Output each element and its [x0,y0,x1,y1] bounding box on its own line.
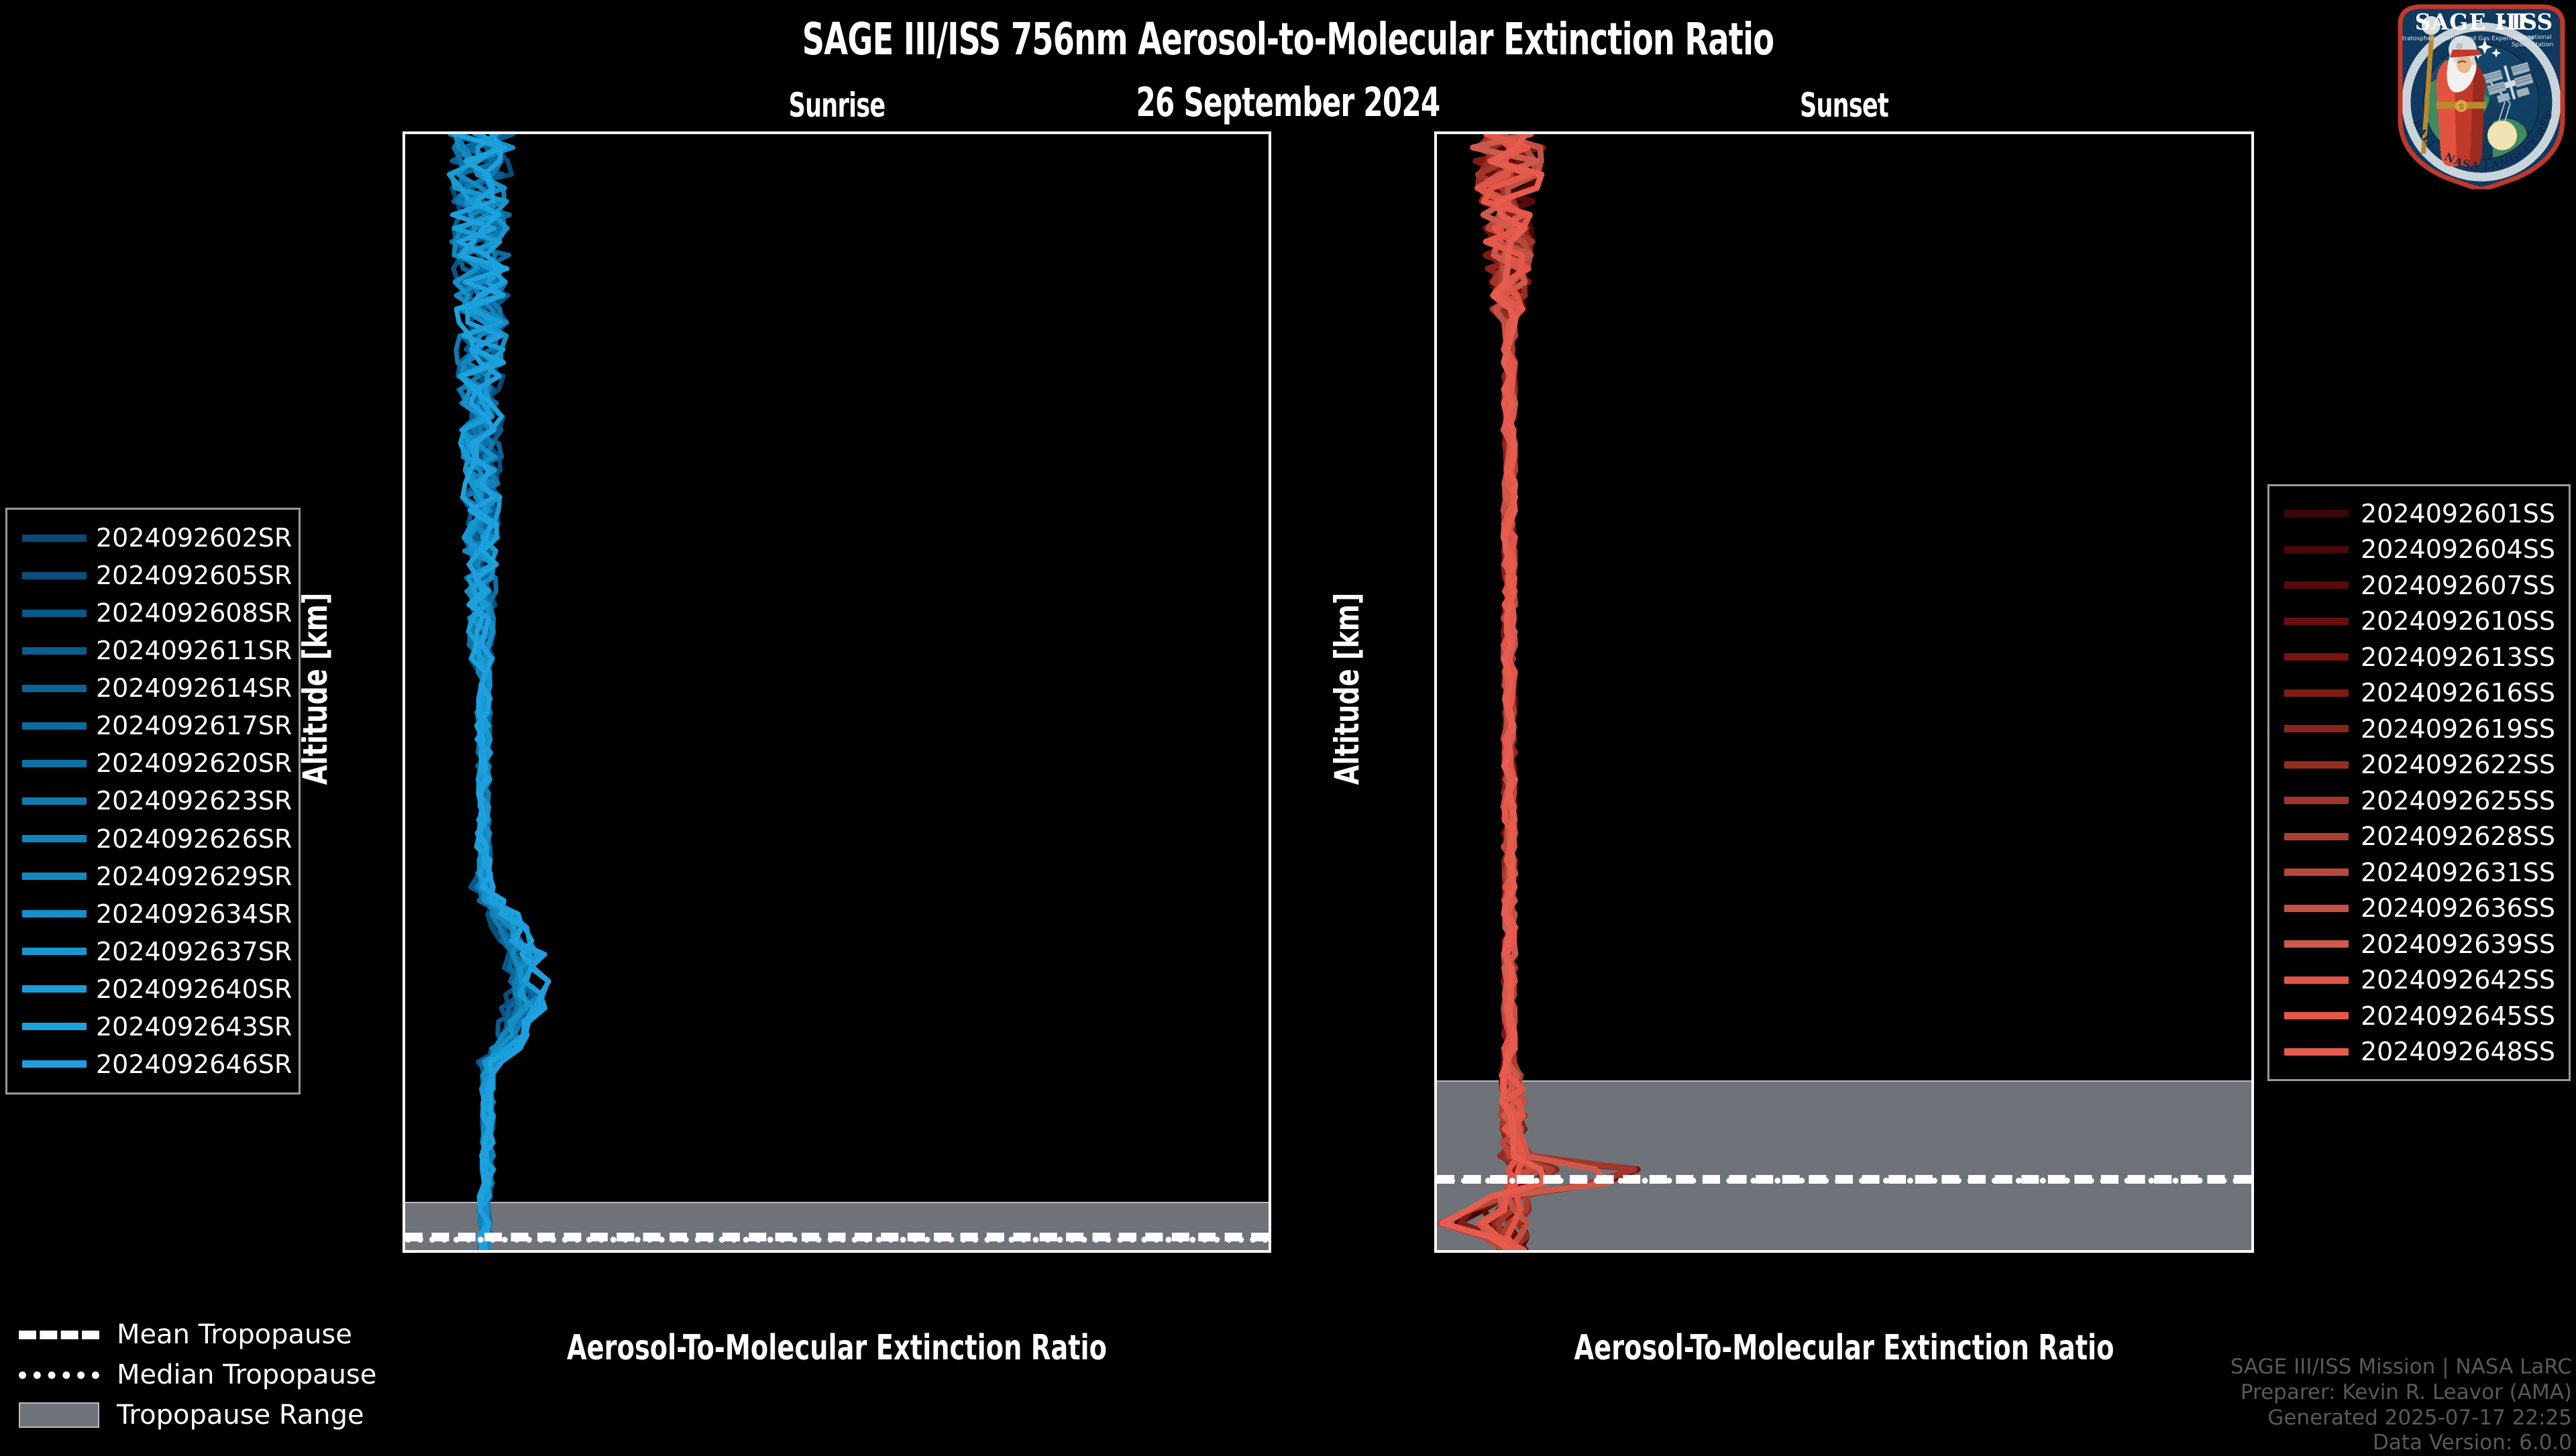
legend-color-swatch [2284,976,2349,984]
profile-trace [1442,134,1544,1250]
legend-item[interactable]: 2024092637SR [7,933,299,970]
legend-event-label: 2024092639SS [2361,930,2555,959]
credit-data-version: Data Version: 6.0.0 [2231,1431,2572,1456]
legend-item[interactable]: 2024092648SS [2269,1034,2569,1070]
legend-item[interactable]: 2024092608SR [7,594,299,632]
y-tick-mark [402,536,405,539]
legend-event-label: 2024092634SR [96,899,292,929]
legend-event-label: 2024092640SR [96,974,292,1004]
legend-color-swatch [2284,1048,2349,1056]
y-tick-mark [1434,133,1437,135]
legend-color-swatch [22,685,87,692]
profile-trace [1457,134,1635,1250]
legend-item[interactable]: 2024092634SR [7,895,299,933]
legend-color-swatch [22,760,87,767]
legend-item[interactable]: 2024092623SR [7,782,299,820]
y-tick-mark [1434,267,1437,270]
plot-panel-sunrise: 101520253035404550 020406080100 [402,131,1271,1253]
legend-color-swatch [2284,653,2349,661]
legend-color-swatch [2284,581,2349,589]
x-tick-mark [2100,1250,2103,1253]
median-tropopause-line-sunrise [405,1237,1269,1243]
legend-item[interactable]: 2024092640SR [7,970,299,1008]
legend-color-swatch [22,1023,87,1030]
credits-block: SAGE III/ISS Mission | NASA LaRC Prepare… [2231,1355,2572,1456]
legend-event-label: 2024092622SS [2361,750,2555,779]
legend-event-label: 2024092648SS [2361,1037,2555,1066]
legend-item[interactable]: 2024092646SR [7,1046,299,1083]
y-tick-mark [402,940,405,942]
y-tick-mark [402,1209,405,1211]
legend-sunrise-events[interactable]: 2024092602SR2024092605SR2024092608SR2024… [5,508,301,1095]
x-axis-label-sunrise: Aerosol-To-Molecular Extinction Ratio [481,1328,1193,1368]
legend-event-label: 2024092611SR [96,636,292,665]
y-tick-mark [402,402,405,404]
y-axis-label-sunrise: Altitude [km] [296,518,335,860]
legend-item[interactable]: 2024092602SR [7,519,299,557]
legend-color-swatch [2284,618,2349,625]
legend-event-label: 2024092631SS [2361,858,2555,887]
legend-item[interactable]: 2024092601SS [2269,496,2569,532]
y-tick-mark [1434,940,1437,942]
legend-color-swatch [2284,510,2349,517]
legend-item[interactable]: 2024092619SS [2269,711,2569,747]
legend-event-label: 2024092636SS [2361,893,2555,923]
legend-item[interactable]: 2024092642SS [2269,962,2569,999]
legend-event-label: 2024092617SR [96,711,292,740]
sage3-iss-mission-patch-logo: S SAGE III · ISS Stratospheric Aerosol a… [2392,1,2571,189]
x-tick-mark [1951,1250,1953,1253]
y-tick-mark [1434,1209,1437,1211]
legend-color-swatch [2284,1012,2349,1019]
legend-color-swatch [22,835,87,842]
legend-color-swatch [22,610,87,617]
legend-event-label: 2024092637SR [96,937,292,966]
y-tick-mark [1434,671,1437,673]
panel-label-sunset: Sunset [1524,86,2163,125]
median-tropopause-line-sunset [1437,1178,2251,1184]
y-tick-mark [1434,536,1437,539]
legend-event-label: 2024092613SS [2361,642,2555,672]
svg-text:ISS: ISS [2511,9,2553,35]
legend-color-swatch [22,535,87,542]
legend-item-mean-tropopause: Mean Tropopause [7,1314,382,1355]
y-tick-mark [1434,402,1437,404]
legend-item[interactable]: 2024092626SR [7,820,299,858]
legend-event-label: 2024092628SS [2361,822,2555,851]
legend-event-label: 2024092608SR [96,598,292,628]
legend-event-label: 2024092614SR [96,673,292,703]
legend-color-swatch [2284,725,2349,732]
legend-color-swatch [22,722,87,730]
legend-event-label: 2024092616SS [2361,678,2555,708]
legend-color-swatch [22,948,87,955]
plot-panel-sunset: 101520253035404550 020406080100 [1434,131,2254,1253]
dotted-line-icon [19,1371,99,1379]
legend-event-label: 2024092610SS [2361,606,2555,636]
legend-color-swatch [2284,546,2349,553]
legend-event-label: 2024092643SR [96,1012,292,1042]
legend-item[interactable]: 2024092645SS [2269,998,2569,1034]
legend-color-swatch [22,1060,87,1068]
legend-color-swatch [2284,689,2349,697]
x-tick-mark [951,1250,953,1253]
svg-text:International: International [2513,34,2551,41]
svg-text:Space Station: Space Station [2512,42,2553,48]
x-tick-mark [792,1250,795,1253]
profile-trace [1473,134,1608,1250]
legend-event-label: 2024092602SR [96,523,292,553]
x-tick-mark [1267,1250,1270,1253]
legend-color-swatch [22,572,87,579]
svg-text:S: S [2459,103,2464,111]
legend-item[interactable]: 2024092625SS [2269,783,2569,819]
legend-item[interactable]: 2024092631SS [2269,854,2569,891]
legend-item-median-tropopause: Median Tropopause [7,1355,382,1395]
legend-label-median-tropopause: Median Tropopause [117,1359,376,1390]
figure-canvas: SAGE III/ISS 756nm Aerosol-to-Molecular … [0,0,2576,1449]
legend-event-label: 2024092619SS [2361,714,2555,744]
svg-text:·: · [2500,9,2508,35]
panel-label-sunrise: Sunrise [498,86,1175,125]
legend-event-label: 2024092626SR [96,824,292,854]
x-tick-mark [633,1250,636,1253]
legend-event-label: 2024092629SR [96,862,292,891]
legend-label-tropopause-range: Tropopause Range [117,1400,364,1431]
legend-item[interactable]: 2024092605SR [7,557,299,594]
legend-item[interactable]: 2024092622SS [2269,747,2569,783]
credit-mission: SAGE III/ISS Mission | NASA LaRC [2231,1355,2572,1380]
y-tick-mark [1434,805,1437,807]
x-tick-mark [475,1250,478,1253]
x-tick-mark [1802,1250,1805,1253]
legend-item[interactable]: 2024092628SS [2269,819,2569,855]
legend-color-swatch [22,873,87,880]
legend-color-swatch [22,985,87,993]
x-axis-label-sunset: Aerosol-To-Molecular Extinction Ratio [1508,1328,2180,1368]
legend-item[interactable]: 2024092643SR [7,1008,299,1046]
legend-color-swatch [22,910,87,917]
legend-event-label: 2024092605SR [96,561,292,590]
legend-item-tropopause-range: Tropopause Range [7,1395,382,1435]
legend-item[interactable]: 2024092611SR [7,632,299,669]
credit-generated: Generated 2025-07-17 22:25 [2231,1406,2572,1431]
legend-color-swatch [2284,869,2349,876]
filled-rectangle-icon [19,1402,99,1428]
y-tick-mark [402,267,405,270]
legend-label-mean-tropopause: Mean Tropopause [117,1319,352,1350]
legend-event-label: 2024092607SS [2361,571,2555,600]
x-tick-mark [2250,1250,2253,1253]
figure-title: SAGE III/ISS 756nm Aerosol-to-Molecular … [283,13,2292,65]
legend-event-label: 2024092604SS [2361,535,2555,564]
legend-event-label: 2024092620SR [96,748,292,778]
legend-event-label: 2024092645SS [2361,1001,2555,1031]
sunrise-profile-traces [405,134,1269,1250]
legend-event-label: 2024092642SS [2361,965,2555,995]
legend-item[interactable]: 2024092616SS [2269,675,2569,712]
legend-tropopause: Mean Tropopause Median Tropopause Tropop… [7,1314,382,1435]
legend-color-swatch [2284,940,2349,948]
legend-event-label: 2024092601SS [2361,499,2555,528]
legend-item[interactable]: 2024092604SS [2269,532,2569,568]
legend-item[interactable]: 2024092620SR [7,744,299,782]
legend-color-swatch [2284,797,2349,804]
legend-item[interactable]: 2024092614SR [7,669,299,707]
legend-item[interactable]: 2024092617SR [7,707,299,744]
x-tick-mark [1652,1250,1655,1253]
legend-item[interactable]: 2024092610SS [2269,604,2569,640]
sunset-profile-traces [1437,134,2251,1250]
y-tick-mark [1434,1074,1437,1076]
legend-color-swatch [2284,761,2349,769]
legend-color-swatch [22,797,87,805]
legend-item[interactable]: 2024092636SS [2269,891,2569,927]
x-tick-mark [1503,1250,1505,1253]
y-tick-mark [402,133,405,135]
credit-preparer: Preparer: Kevin R. Leavor (AMA) [2231,1380,2572,1406]
y-tick-mark [402,1074,405,1076]
legend-color-swatch [22,647,87,655]
y-tick-mark [402,805,405,807]
y-tick-mark [402,671,405,673]
legend-event-label: 2024092625SS [2361,786,2555,816]
legend-sunset-events[interactable]: 2024092601SS2024092604SS2024092607SS2024… [2267,484,2571,1081]
y-axis-label-sunset: Altitude [km] [1328,518,1366,860]
legend-item[interactable]: 2024092613SS [2269,639,2569,675]
legend-item[interactable]: 2024092639SS [2269,926,2569,962]
legend-item[interactable]: 2024092607SS [2269,567,2569,604]
legend-color-swatch [2284,833,2349,840]
legend-item[interactable]: 2024092629SR [7,858,299,895]
legend-color-swatch [2284,905,2349,912]
x-tick-mark [1109,1250,1112,1253]
legend-event-label: 2024092623SR [96,786,292,816]
legend-event-label: 2024092646SR [96,1050,292,1079]
dashed-line-icon [19,1331,99,1339]
